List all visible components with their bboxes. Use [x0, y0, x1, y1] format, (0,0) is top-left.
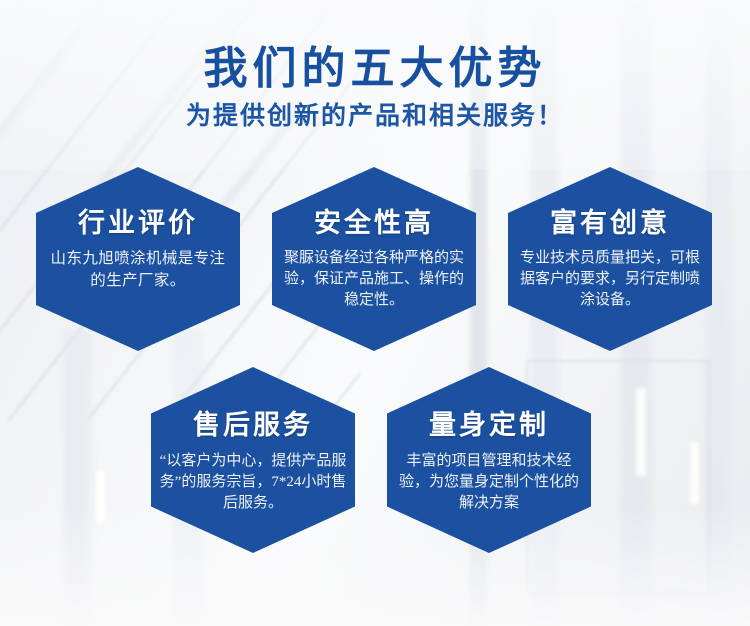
page-title: 我们的五大优势: [0, 0, 750, 93]
advantage-description: 聚脲设备经过各种严格的实验，保证产品施工、操作的稳定性。: [272, 239, 476, 312]
advantage-title: 行业评价: [78, 209, 198, 239]
advantage-description: 专业技术员质量把关，可根据客户的要求，另行定制喷涂设备。: [508, 239, 712, 312]
promo-banner: 我们的五大优势 为提供创新的产品和相关服务！ 行业评价 山东九旭喷涂机械是专注的…: [0, 0, 750, 626]
advantage-title: 富有创意: [550, 209, 670, 239]
advantage-description: 山东九旭喷涂机械是专注的生产厂家。: [36, 239, 240, 292]
banner-header: 我们的五大优势 为提供创新的产品和相关服务！: [0, 0, 750, 132]
background-bottom-wash: [0, 506, 750, 626]
advantage-title: 量身定制: [429, 411, 549, 441]
background-highlight-b: [690, 442, 699, 504]
advantage-description: “以客户为中心，提供产品服务”的服务宗旨，7*24小时售后服务。: [151, 441, 355, 515]
advantage-title: 安全性高: [314, 209, 434, 239]
background-highlight-a: [636, 388, 646, 476]
advantage-title: 售后服务: [193, 411, 313, 441]
advantage-description: 丰富的项目管理和技术经验，为您量身定制个性化的解决方案: [387, 441, 591, 515]
page-subtitle: 为提供创新的产品和相关服务！: [0, 93, 750, 132]
